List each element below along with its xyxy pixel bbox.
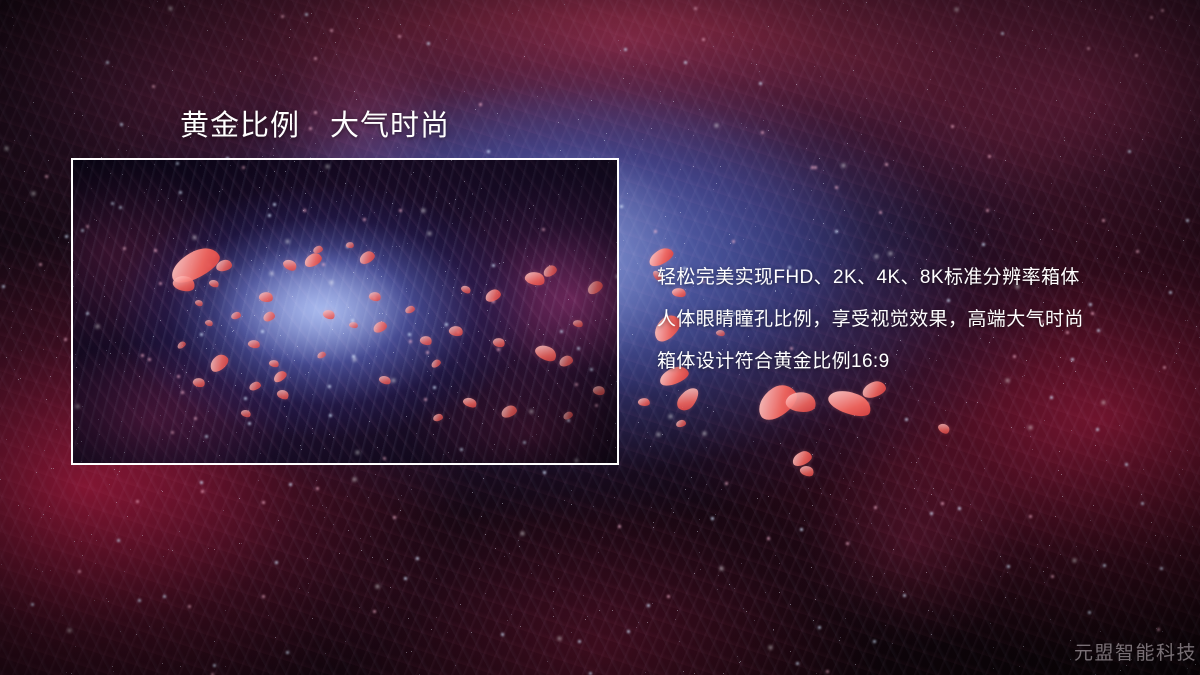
petal — [302, 251, 323, 269]
petal — [462, 395, 479, 409]
petal — [937, 421, 952, 436]
petal — [585, 279, 604, 296]
petal — [448, 324, 464, 337]
petal — [799, 464, 816, 479]
petal — [419, 334, 433, 347]
petal — [247, 339, 261, 350]
petal — [460, 284, 472, 295]
petal — [558, 354, 574, 367]
petal — [825, 385, 874, 422]
petal — [316, 351, 326, 359]
petal — [676, 419, 687, 427]
petal — [790, 449, 813, 468]
petal — [171, 273, 197, 294]
presentation-slide: 黄金比例 大气时尚 轻松完美实现FHD、2K、4K、8K标准分辨率箱体 人体眼睛… — [0, 0, 1200, 675]
petal — [348, 321, 358, 329]
petal — [542, 264, 559, 279]
petal — [281, 257, 298, 273]
page-title: 黄金比例 大气时尚 — [180, 102, 450, 144]
petal — [500, 404, 519, 419]
petal — [523, 269, 546, 288]
petal — [230, 311, 241, 320]
watermark: 元盟智能科技 — [1074, 638, 1197, 665]
framed-image-starfield — [73, 160, 74, 161]
body-line-3: 箱体设计符合黄金比例16:9 — [657, 341, 1157, 383]
petal — [276, 388, 291, 402]
petal — [430, 358, 442, 369]
framed-image-nebula — [73, 160, 617, 463]
petal — [322, 308, 337, 321]
petal — [752, 379, 802, 425]
petal — [432, 413, 443, 422]
petal — [262, 310, 276, 322]
petal — [784, 389, 818, 415]
petal — [572, 319, 584, 329]
petal — [194, 298, 204, 307]
petal — [208, 278, 220, 289]
petal — [484, 288, 503, 304]
petal — [207, 352, 231, 375]
petal — [176, 340, 187, 350]
body-line-1: 轻松完美实现FHD、2K、4K、8K标准分辨率箱体 — [657, 257, 1157, 299]
petal — [372, 320, 389, 334]
petal — [166, 242, 224, 288]
petal — [215, 259, 232, 272]
petal — [533, 341, 559, 364]
petal — [312, 245, 323, 254]
petal — [562, 410, 574, 420]
petal — [492, 336, 506, 349]
petal — [368, 290, 382, 302]
petal — [592, 384, 606, 396]
body-line-2: 人体眼睛瞳孔比例，享受视觉效果，高端大气时尚 — [657, 299, 1157, 341]
petal — [248, 381, 262, 392]
petal — [674, 384, 702, 414]
framed-image-vignette — [73, 160, 617, 463]
framed-image — [71, 158, 619, 465]
background-starfield — [0, 0, 1, 1]
petal — [204, 318, 214, 327]
petal — [404, 305, 415, 314]
petal — [258, 291, 274, 304]
petal — [357, 249, 376, 266]
petal — [272, 369, 289, 384]
framed-image-filaments — [73, 160, 617, 463]
petal — [192, 376, 206, 389]
petal — [240, 408, 252, 418]
petal — [378, 374, 392, 386]
petal — [268, 359, 280, 369]
petal — [637, 397, 650, 407]
body-text-block: 轻松完美实现FHD、2K、4K、8K标准分辨率箱体 人体眼睛瞳孔比例，享受视觉效… — [657, 257, 1157, 383]
petal — [345, 241, 354, 249]
